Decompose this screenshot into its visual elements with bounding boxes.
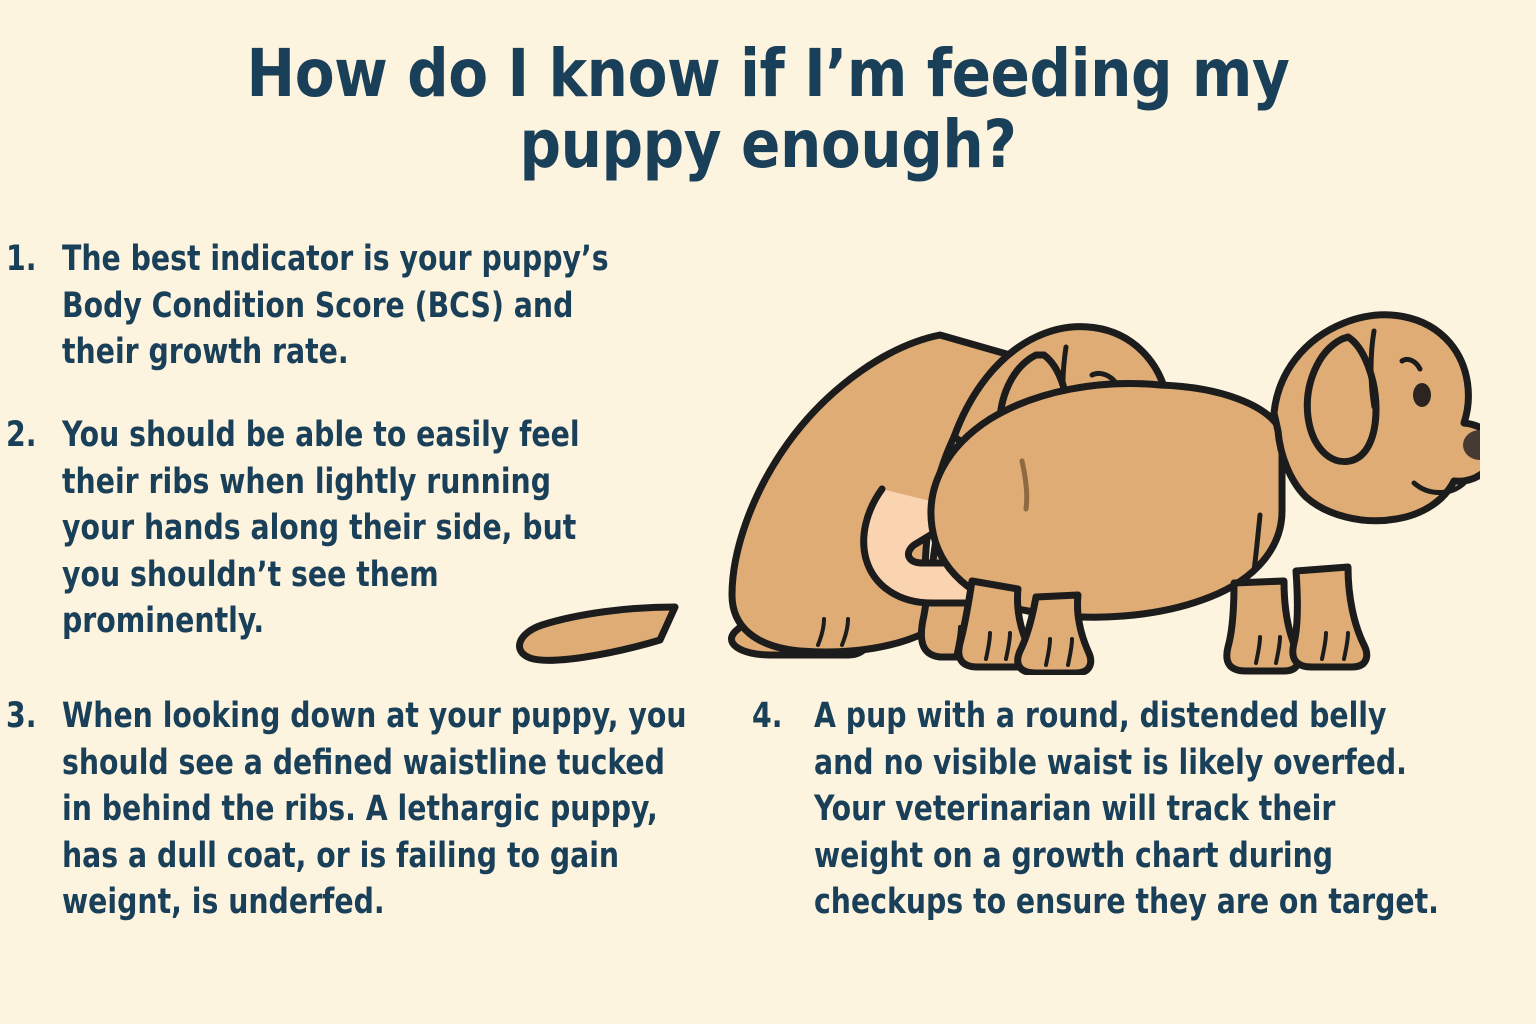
list-item: 4. A pup with a round, distended belly a… <box>752 693 1512 926</box>
list-item-number: 1. <box>6 236 56 376</box>
list-item: 2. You should be able to easily feel the… <box>6 412 696 645</box>
list-item-text: The best indicator is your puppy’s Body … <box>62 236 633 376</box>
list-item-text: When looking down at your puppy, you sho… <box>62 693 696 926</box>
list-item: 1. The best indicator is your puppy’s Bo… <box>6 236 696 376</box>
list-item-text: A pup with a round, distended belly and … <box>814 693 1442 926</box>
list-item-text: You should be able to easily feel their … <box>62 412 633 645</box>
infographic-canvas: How do I know if I’m feeding my puppy en… <box>0 0 1536 1024</box>
list-item-number: 3. <box>6 693 56 926</box>
page-title: How do I know if I’m feeding my puppy en… <box>92 38 1444 181</box>
list-item-number: 2. <box>6 412 56 645</box>
list-item: 3. When looking down at your puppy, you … <box>6 693 766 926</box>
list-item-number: 4. <box>752 693 808 926</box>
